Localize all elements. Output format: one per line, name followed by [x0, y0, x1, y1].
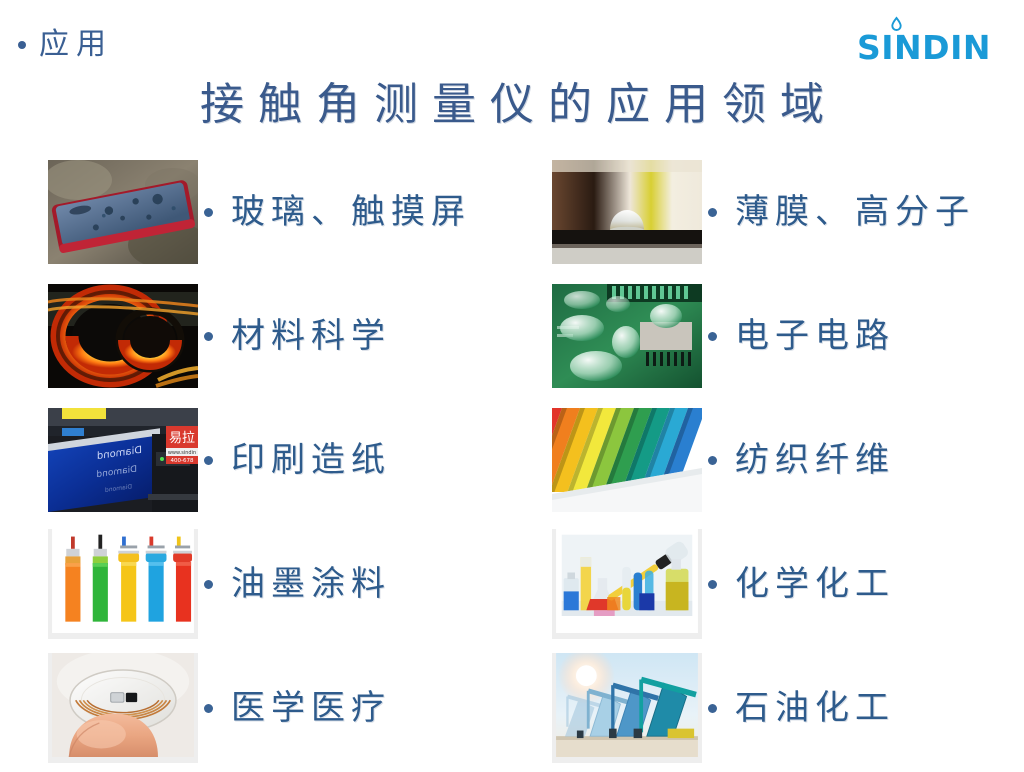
wide-format-printer-photo: Diamond Diamond Diamond 易拉 www.sindin 40… [48, 408, 198, 512]
bullet-dot-icon [204, 456, 213, 465]
application-item[interactable]: Diamond Diamond Diamond 易拉 www.sindin 40… [0, 398, 504, 522]
applications-grid: 玻璃、触摸屏 [0, 150, 1024, 770]
oil-pumpjacks-photo [552, 653, 702, 763]
bullet-dot-icon [204, 580, 213, 589]
application-label: 化学化工 [735, 567, 895, 601]
bullet-dot-icon [18, 41, 26, 49]
application-label: 石油化工 [735, 691, 895, 725]
application-item[interactable]: 材料科学 [0, 274, 504, 398]
bullet-dot-icon [708, 704, 717, 713]
svg-text:400-678: 400-678 [171, 458, 194, 464]
application-label: 纺织纤维 [735, 443, 895, 477]
bullet-dot-icon [204, 208, 213, 217]
bullet-dot-icon [708, 580, 717, 589]
svg-text:www.sindin: www.sindin [168, 450, 196, 456]
application-label: 薄膜、高分子 [735, 195, 975, 229]
application-bullet: 纺织纤维 [708, 443, 895, 477]
application-bullet: 印刷造纸 [204, 443, 391, 477]
rainbow-fabric-rolls-photo [552, 408, 702, 512]
slide: 应用 SINDIN 接触角测量仪的应用领域 [0, 0, 1024, 772]
bullet-dot-icon [204, 704, 213, 713]
application-label: 电子电路 [735, 319, 895, 353]
application-bullet: 电子电路 [708, 319, 895, 353]
red-smartphone-water-droplets-photo [48, 160, 198, 264]
application-item[interactable]: 石油化工 [504, 646, 1008, 770]
application-item[interactable]: 油墨涂料 [0, 522, 504, 646]
application-item[interactable]: 医学医疗 [0, 646, 504, 770]
header-bullet: 应用 [18, 30, 113, 60]
bullet-dot-icon [708, 332, 717, 341]
paint-brushes-rollers-photo [48, 529, 198, 639]
water-droplet-on-film-photo [552, 160, 702, 264]
application-label: 玻璃、触摸屏 [231, 195, 471, 229]
application-item[interactable]: 电子电路 [504, 274, 1008, 398]
application-item[interactable]: 玻璃、触摸屏 [0, 150, 504, 274]
application-item[interactable]: 纺织纤维 [504, 398, 1008, 522]
application-item[interactable]: 薄膜、高分子 [504, 150, 1008, 274]
application-bullet: 材料科学 [204, 319, 391, 353]
application-bullet: 化学化工 [708, 567, 895, 601]
application-label: 医学医疗 [231, 691, 391, 725]
application-bullet: 医学医疗 [204, 691, 391, 725]
svg-text:SINDIN: SINDIN [857, 28, 991, 66]
application-label: 材料科学 [231, 319, 391, 353]
application-bullet: 薄膜、高分子 [708, 195, 975, 229]
lab-glassware-colored-liquids-photo [552, 529, 702, 639]
brand-logo: SINDIN [848, 14, 1000, 66]
application-label: 油墨涂料 [231, 567, 391, 601]
svg-text:易拉: 易拉 [169, 431, 195, 446]
bullet-dot-icon [204, 332, 213, 341]
smart-contact-lens-fingertip-photo [48, 653, 198, 763]
bullet-dot-icon [708, 208, 717, 217]
application-item[interactable]: 化学化工 [504, 522, 1008, 646]
bullet-dot-icon [708, 456, 717, 465]
page-title: 接触角测量仪的应用领域 [0, 80, 1024, 131]
application-bullet: 玻璃、触摸屏 [204, 195, 471, 229]
application-label: 印刷造纸 [231, 443, 391, 477]
glowing-hot-metal-coil-photo [48, 284, 198, 388]
header-label: 应用 [39, 30, 113, 60]
green-pcb-water-droplets-photo [552, 284, 702, 388]
application-bullet: 石油化工 [708, 691, 895, 725]
application-bullet: 油墨涂料 [204, 567, 391, 601]
